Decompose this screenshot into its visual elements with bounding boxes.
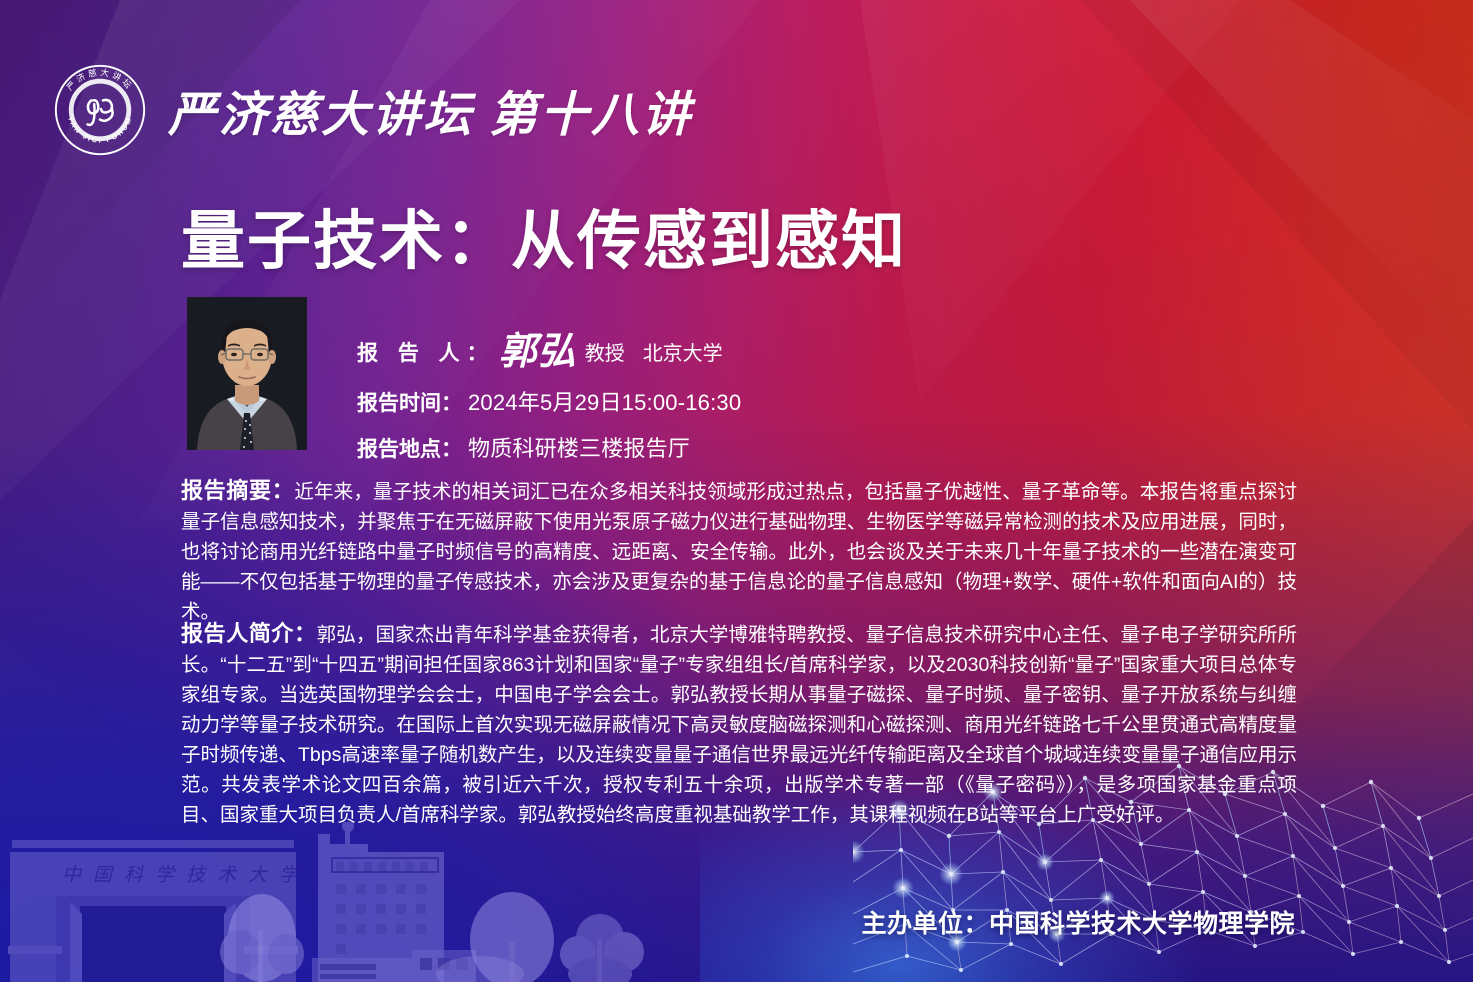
organizer-footer: 主办单位：中国科学技术大学物理学院 (861, 904, 1295, 940)
poster-canvas: 中国科学技术大学 (0, 0, 1473, 982)
abstract-section: 报告摘要：近年来，量子技术的相关词汇已在众多相关科技领域形成过热点，包括量子优越… (181, 476, 1297, 627)
speaker-portrait (187, 297, 307, 450)
abstract-label: 报告摘要： (181, 478, 294, 503)
bio-text: 郭弘，国家杰出青年科学基金获得者，北京大学博雅特聘教授、量子信息技术研究中心主任… (181, 624, 1297, 826)
time-value: 2024年5月29日15:00-16:30 (468, 385, 741, 417)
bio-section: 报告人简介：郭弘，国家杰出青年科学基金获得者，北京大学博雅特聘教授、量子信息技术… (181, 619, 1297, 830)
bio-label: 报告人简介： (181, 621, 317, 646)
place-label: 报告地点： (357, 433, 462, 463)
speaker-line: 报 告 人： 郭弘 教授 北京大学 (357, 316, 741, 371)
time-label: 报告时间： (357, 387, 462, 417)
lecture-title: 量子技术：从传感到感知 (181, 190, 907, 282)
time-line: 报告时间： 2024年5月29日15:00-16:30 (357, 385, 741, 417)
forum-header: 严济慈大讲坛 YAN JICI FORUM 严济慈大讲坛 第十八讲 (52, 62, 693, 158)
abstract-text: 近年来，量子技术的相关词汇已在众多相关科技领域形成过热点，包括量子优越性、量子革… (181, 481, 1297, 623)
place-line: 报告地点： 物质科研楼三楼报告厅 (357, 431, 741, 463)
speaker-rank: 教授 (585, 337, 625, 366)
speaker-label: 报 告 人： (357, 337, 495, 367)
speaker-affiliation: 北京大学 (643, 337, 723, 366)
place-value: 物质科研楼三楼报告厅 (468, 431, 690, 463)
speaker-name: 郭弘 (499, 320, 577, 375)
forum-title: 严济慈大讲坛 第十八讲 (168, 75, 693, 145)
speaker-info-block: 报 告 人： 郭弘 教授 北京大学 报告时间： 2024年5月29日15:00-… (357, 316, 741, 477)
yan-jici-forum-seal-icon: 严济慈大讲坛 YAN JICI FORUM (52, 62, 148, 158)
